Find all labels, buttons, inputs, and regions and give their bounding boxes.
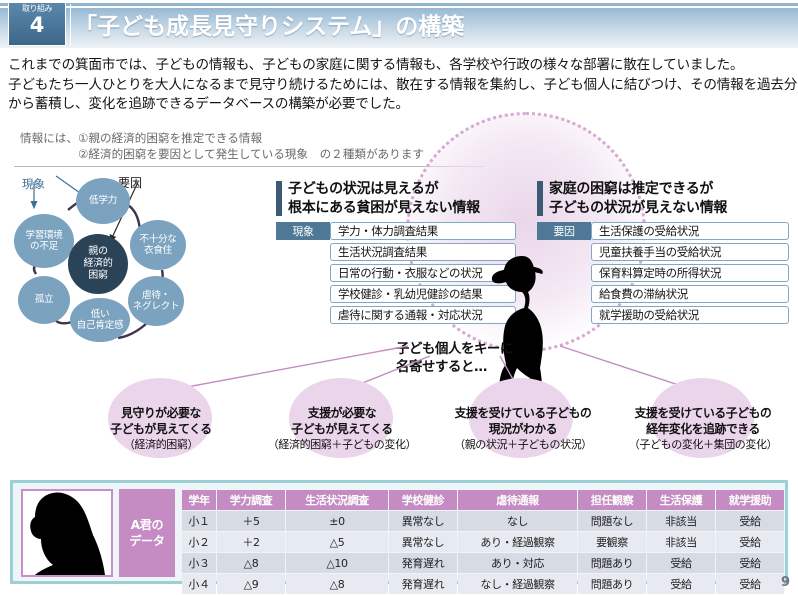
concept-node-learning-environment-label: 学習環境の不足 <box>25 230 62 253</box>
table-cell: △5 <box>286 532 388 552</box>
outcome-label-4: 支援を受けている子どもの 経年変化を追跡できる （子どもの変化＋集団の変化） <box>610 406 796 453</box>
table-cell: 小３ <box>182 553 216 573</box>
column-header: 学力調査 <box>217 490 285 510</box>
outcome-label-3: 支援を受けている子どもの 現況がわかる （親の状況＋子どもの状況） <box>428 406 618 453</box>
panel-left-title: 子どもの状況は見えるが 根本にある貧困が見えない情報 <box>276 180 516 217</box>
table-cell: 発育遅れ <box>389 574 457 594</box>
concept-node-parental-poverty-label: 親の経済的困窮 <box>83 246 112 282</box>
panel-left-chip: 現象 <box>276 222 330 240</box>
intro-line-2: 子どもたち一人ひとりを大人になるまで見守り続けるためには、散在する情報を集約し、… <box>8 76 792 96</box>
column-header: 生活状況調査 <box>286 490 388 510</box>
table-row: 小３ △8 △10 発育遅れ あり・対応 問題あり 受給 受給 <box>182 553 784 573</box>
table-cell: ＋2 <box>217 532 285 552</box>
table-cell: 小１ <box>182 511 216 531</box>
list-item[interactable]: 生活保護の受給状況 <box>591 222 789 240</box>
list-item[interactable]: 保育料算定時の所得状況 <box>591 264 789 282</box>
header-rule-mid <box>0 3 798 5</box>
panel-visible-child-status: 子どもの状況は見えるが 根本にある貧困が見えない情報 現象 学力・体力調査結果 … <box>276 180 516 217</box>
table-cell: 受給 <box>716 511 784 531</box>
intro-paragraph: これまでの箕面市では、子どもの情報も、子どもの家庭に関する情報も、各学校や行政の… <box>8 56 792 115</box>
list-item[interactable]: 児童扶養手当の受給状況 <box>591 243 789 261</box>
outcome-label-2: 支援が必要な 子どもが見えてくる （経済的困窮＋子どもの変化） <box>244 406 440 453</box>
student-record-table: 学年 学力調査 生活状況調査 学校健診 虐待通報 担任観察 生活保護 就学援助 … <box>181 489 785 595</box>
panel-left-title-line-2: 根本にある貧困が見えない情報 <box>288 200 480 216</box>
table-cell: ±0 <box>286 511 388 531</box>
table-cell: 異常なし <box>389 511 457 531</box>
sample-data-panel: A君の データ 学年 学力調査 生活状況調査 学校健診 虐待通報 担任観察 生活… <box>10 480 788 584</box>
table-row: 小１ ＋5 ±0 異常なし なし 問題なし 非該当 受給 <box>182 511 784 531</box>
table-cell: 非該当 <box>647 511 715 531</box>
concept-node-low-academic-label: 低学力 <box>89 195 117 207</box>
info-note-line-2: ②経済的困窮を要因として発生している現象 の２種類があります <box>20 146 490 162</box>
list-item[interactable]: 学力・体力調査結果 <box>330 222 516 240</box>
column-header: 虐待通報 <box>458 490 577 510</box>
student-name-tag: A君の データ <box>119 489 175 577</box>
column-header: 就学援助 <box>716 490 784 510</box>
panel-right-list: 生活保護の受給状況 児童扶養手当の受給状況 保育料算定時の所得状況 給食費の滞納… <box>591 222 789 327</box>
table-cell: 受給 <box>716 532 784 552</box>
list-item[interactable]: 就学援助の受給状況 <box>591 306 789 324</box>
table-cell: 問題なし <box>578 511 646 531</box>
table-cell: ＋5 <box>217 511 285 531</box>
table-cell: 要観察 <box>578 532 646 552</box>
table-cell: なし・経過観察 <box>458 574 577 594</box>
panel-estimable-household-poverty: 家庭の困窮は推定できるが 子どもの状況が見えない情報 要因 生活保護の受給状況 … <box>537 180 789 217</box>
column-header: 生活保護 <box>647 490 715 510</box>
section-badge-number: 4 <box>30 14 45 36</box>
intro-line-3: から蓄積し、変化を追跡できるデータベースの構築が必要でした。 <box>8 95 792 115</box>
column-header: 担任観察 <box>578 490 646 510</box>
panel-right-title: 家庭の困窮は推定できるが 子どもの状況が見えない情報 <box>537 180 789 217</box>
table-cell: 非該当 <box>647 532 715 552</box>
column-header: 学年 <box>182 490 216 510</box>
slide-header: 取り組み 4 「子ども成長見守りシステム」の構築 <box>0 0 798 48</box>
concept-node-insufficient-living-label: 不十分な衣食住 <box>139 234 176 257</box>
table-cell: 小４ <box>182 574 216 594</box>
concept-node-low-self-esteem-label: 低い自己肯定感 <box>77 309 123 332</box>
concept-node-learning-environment: 学習環境の不足 <box>14 214 74 268</box>
table-cell: なし <box>458 511 577 531</box>
concept-node-isolation: 孤立 <box>18 276 70 324</box>
student-silhouette-icon <box>23 491 111 575</box>
concept-node-abuse-neglect-label: 虐待・ネグレクト <box>133 290 179 313</box>
table-cell: あり・対応 <box>458 553 577 573</box>
table-cell: △9 <box>217 574 285 594</box>
column-header: 学校健診 <box>389 490 457 510</box>
table-cell: △10 <box>286 553 388 573</box>
table-cell: 問題あり <box>578 574 646 594</box>
concept-node-isolation-label: 孤立 <box>35 294 54 306</box>
page-title: 「子ども成長見守りシステム」の構築 <box>74 7 464 41</box>
table-cell: 異常なし <box>389 532 457 552</box>
list-item[interactable]: 給食費の滞納状況 <box>591 285 789 303</box>
table-cell: 受給 <box>647 574 715 594</box>
table-cell: 受給 <box>716 574 784 594</box>
panel-right-chip: 要因 <box>537 222 591 240</box>
panel-right-title-line-2: 子どもの状況が見えない情報 <box>549 200 727 216</box>
table-cell: 受給 <box>716 553 784 573</box>
intro-line-1: これまでの箕面市では、子どもの情報も、子どもの家庭に関する情報も、各学校や行政の… <box>8 56 792 76</box>
header-divider <box>70 4 71 46</box>
table-cell: 受給 <box>647 553 715 573</box>
table-row: 小２ ＋2 △5 異常なし あり・経過観察 要観察 非該当 受給 <box>182 532 784 552</box>
table-cell: あり・経過観察 <box>458 532 577 552</box>
student-name-tag-line-2: データ <box>129 533 164 549</box>
concept-node-low-academic: 低学力 <box>76 178 130 224</box>
student-name-tag-line-1: A君の <box>131 517 163 533</box>
table-row: 小４ △9 △8 発育遅れ なし・経過観察 問題あり 受給 受給 <box>182 574 784 594</box>
table-cell: 問題あり <box>578 553 646 573</box>
info-note: 情報には、①親の経済的困窮を推定できる情報 ②経済的困窮を要因として発生している… <box>20 130 490 162</box>
concept-node-parental-poverty: 親の経済的困窮 <box>68 234 128 294</box>
slide: 取り組み 4 「子ども成長見守りシステム」の構築 これまでの箕面市では、子どもの… <box>0 0 798 593</box>
page-number: 9 <box>781 575 790 590</box>
panel-right-title-line-1: 家庭の困窮は推定できるが <box>549 181 713 197</box>
outcome-label-1: 見守りが必要な 子どもが見えてくる （経済的困窮） <box>78 406 244 453</box>
table-cell: △8 <box>217 553 285 573</box>
concept-node-abuse-neglect: 虐待・ネグレクト <box>128 276 184 326</box>
panel-left-title-line-1: 子どもの状況は見えるが <box>288 181 438 197</box>
poverty-concept-map: 低学力 不十分な衣食住 虐待・ネグレクト 低い自己肯定感 孤立 学習環境の不足 <box>6 176 192 340</box>
table-cell: 発育遅れ <box>389 553 457 573</box>
info-note-line-1: 情報には、①親の経済的困窮を推定できる情報 <box>20 130 490 146</box>
concept-node-insufficient-living: 不十分な衣食住 <box>130 220 186 270</box>
table-cell: 小２ <box>182 532 216 552</box>
student-photo <box>21 489 113 577</box>
table-header-row: 学年 学力調査 生活状況調査 学校健診 虐待通報 担任観察 生活保護 就学援助 <box>182 490 784 510</box>
table-cell: △8 <box>286 574 388 594</box>
section-badge: 取り組み 4 <box>8 2 66 46</box>
